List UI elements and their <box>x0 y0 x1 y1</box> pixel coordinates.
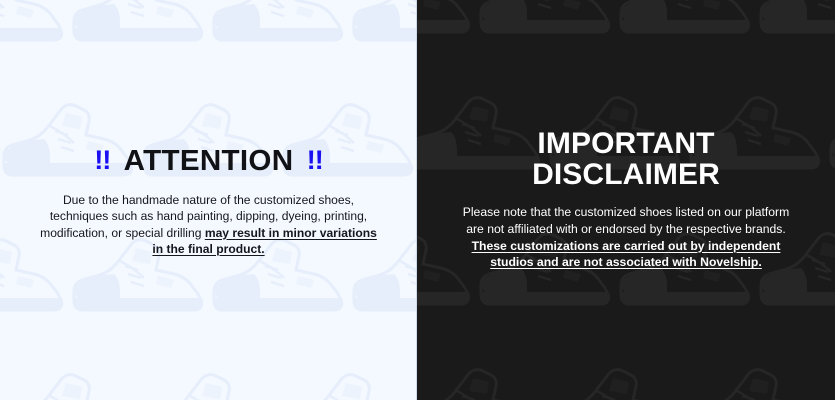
disclaimer-content: IMPORTANT DISCLAIMER Please note that th… <box>417 129 835 271</box>
attention-content: !! ATTENTION !! Due to the handmade natu… <box>0 147 417 258</box>
disclaimer-banner: !! ATTENTION !! Due to the handmade natu… <box>0 0 835 400</box>
disclaimer-panel: IMPORTANT DISCLAIMER Please note that th… <box>417 0 835 400</box>
attention-body: Due to the handmade nature of the custom… <box>40 192 377 258</box>
disclaimer-headline: IMPORTANT DISCLAIMER <box>461 129 791 190</box>
disclaimer-body-emphasis: These customizations are carried out by … <box>472 239 781 270</box>
disclaimer-headline-line1: IMPORTANT <box>461 129 791 160</box>
attention-headline-text: ATTENTION <box>124 147 294 176</box>
exclamation-left-icon: !! <box>94 147 110 174</box>
disclaimer-body-lead: Please note that the customized shoes li… <box>463 205 790 236</box>
panel-divider <box>416 0 417 400</box>
disclaimer-body: Please note that the customized shoes li… <box>461 204 791 270</box>
exclamation-right-icon: !! <box>307 147 323 174</box>
attention-headline: !! ATTENTION !! <box>37 147 381 176</box>
attention-panel: !! ATTENTION !! Due to the handmade natu… <box>0 0 417 400</box>
disclaimer-headline-line2: DISCLAIMER <box>461 160 791 191</box>
